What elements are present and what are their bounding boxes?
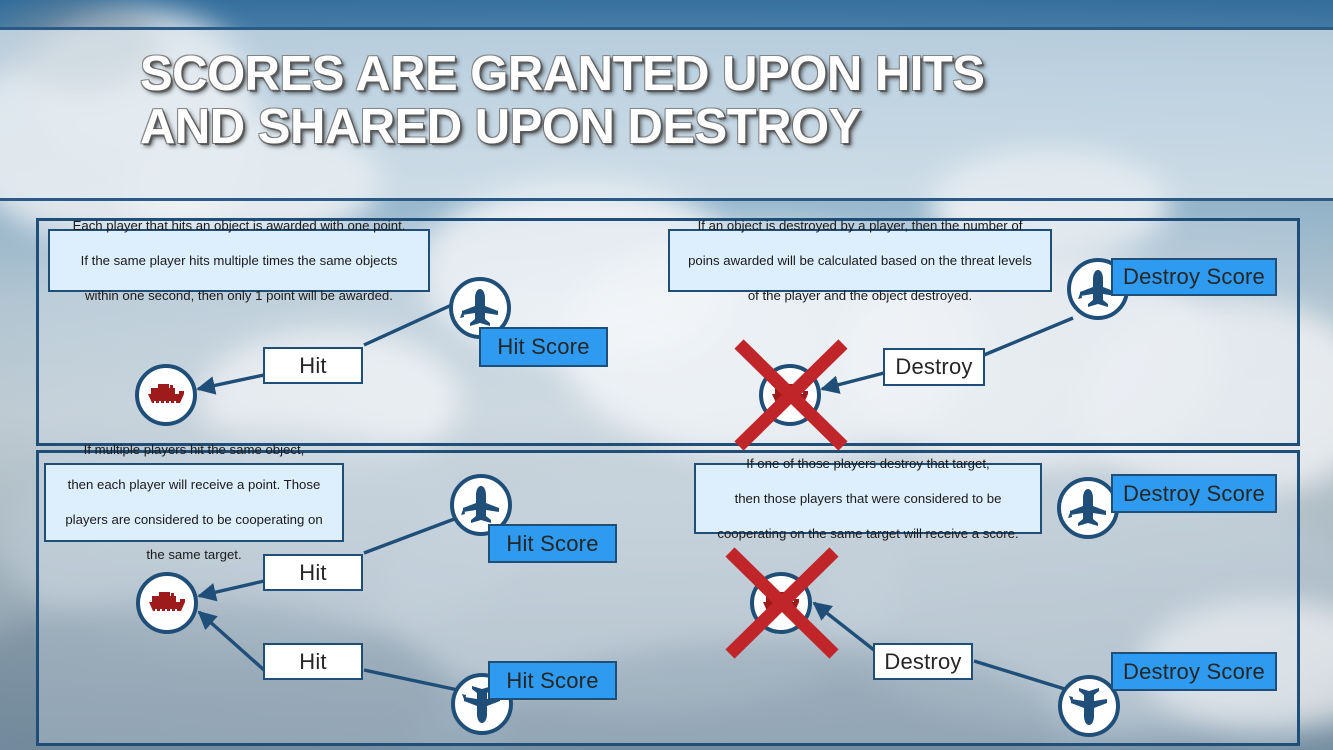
ship-icon xyxy=(761,590,801,616)
destroy-score-label-text: Destroy Score xyxy=(1123,264,1265,290)
slide-canvas: SCORES ARE GRANTED UPON HITS AND SHARED … xyxy=(0,0,1333,750)
note-line: then each player will receive a point. T… xyxy=(65,476,322,494)
hit-score-label[interactable]: Hit Score xyxy=(488,524,617,563)
ship-icon xyxy=(146,382,186,408)
hit-event-label-text: Hit xyxy=(299,353,327,379)
destroy-score-label-text: Destroy Score xyxy=(1123,659,1265,685)
page-title-line-2: AND SHARED UPON DESTROY xyxy=(140,101,1240,154)
target-ship-icon-node[interactable] xyxy=(136,572,198,634)
hit-score-label[interactable]: Hit Score xyxy=(488,661,617,700)
jet-icon xyxy=(1067,488,1109,528)
player-jet-icon-node[interactable] xyxy=(1057,477,1119,539)
target-ship-icon-node[interactable] xyxy=(135,364,197,426)
destroy-event-label[interactable]: Destroy xyxy=(873,643,973,680)
ship-icon xyxy=(147,590,187,616)
destroy-score-label[interactable]: Destroy Score xyxy=(1111,474,1277,513)
jet-icon xyxy=(1068,686,1110,726)
note-cooperative-hit-rules: If multiple players hit the same object,… xyxy=(44,463,344,542)
note-line: poins awarded will be calculated based o… xyxy=(688,252,1032,270)
note-line: cooperating on the same target will rece… xyxy=(717,525,1018,543)
destroy-event-label[interactable]: Destroy xyxy=(883,348,985,386)
note-line: within one second, then only 1 point wil… xyxy=(73,287,406,305)
hit-event-label-text: Hit xyxy=(299,649,327,675)
hit-score-label[interactable]: Hit Score xyxy=(479,327,608,367)
note-line: If an object is destroyed by a player, t… xyxy=(688,217,1032,235)
note-line: of the player and the object destroyed. xyxy=(688,287,1032,305)
destroy-score-label-text: Destroy Score xyxy=(1123,481,1265,507)
note-destroy-scoring-rules: If an object is destroyed by a player, t… xyxy=(668,229,1052,292)
hit-event-label[interactable]: Hit xyxy=(263,554,363,591)
page-title: SCORES ARE GRANTED UPON HITS AND SHARED … xyxy=(140,48,1240,154)
destroy-score-label[interactable]: Destroy Score xyxy=(1111,258,1277,296)
hit-score-label-text: Hit Score xyxy=(497,334,589,360)
note-line: If one of those players destroy that tar… xyxy=(717,455,1018,473)
hit-event-label[interactable]: Hit xyxy=(263,643,363,680)
note-line: then those players that were considered … xyxy=(717,490,1018,508)
note-line: players are considered to be cooperating… xyxy=(65,511,322,529)
hit-event-label-text: Hit xyxy=(299,560,327,586)
note-line: Each player that hits an object is award… xyxy=(73,217,406,235)
note-hit-scoring-rules: Each player that hits an object is award… xyxy=(48,229,430,292)
hit-score-label-text: Hit Score xyxy=(506,531,598,557)
note-line: If multiple players hit the same object, xyxy=(65,441,322,459)
hit-event-label[interactable]: Hit xyxy=(263,347,363,384)
jet-icon xyxy=(459,288,501,328)
destroyed-target-ship-node[interactable] xyxy=(759,364,821,426)
destroy-score-label[interactable]: Destroy Score xyxy=(1111,652,1277,691)
destroy-event-label-text: Destroy xyxy=(884,649,961,675)
jet-icon xyxy=(460,485,502,525)
hit-score-label-text: Hit Score xyxy=(506,668,598,694)
destroyed-target-ship-node[interactable] xyxy=(750,572,812,634)
note-cooperative-destroy-rules: If one of those players destroy that tar… xyxy=(694,463,1042,534)
destroy-event-label-text: Destroy xyxy=(895,354,972,380)
ship-icon xyxy=(770,382,810,408)
page-title-line-1: SCORES ARE GRANTED UPON HITS xyxy=(140,48,1240,101)
note-line: If the same player hits multiple times t… xyxy=(73,252,406,270)
